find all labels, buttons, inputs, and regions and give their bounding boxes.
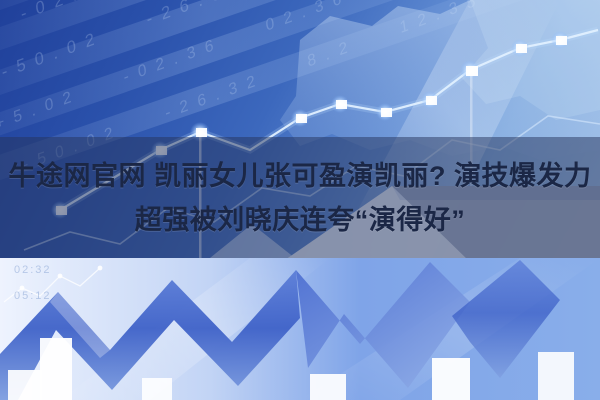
lower-chart-scene	[0, 258, 600, 400]
headline-line-1: 牛途网官网 凯丽女儿张可盈演凯丽? 演技爆发力	[9, 154, 592, 198]
lower-background: 02:32 05:12	[0, 258, 600, 400]
headline-band: 牛途网官网 凯丽女儿张可盈演凯丽? 演技爆发力 超强被刘晓庆连夸“演得好”	[0, 137, 600, 258]
lower-ticker-value: 02:32	[14, 264, 52, 276]
lower-ticker-value: 05:12	[14, 290, 52, 302]
sparkline-dot	[98, 266, 103, 271]
sparkline-dot	[58, 274, 63, 279]
stock-market-banner: -26.35-11.25+5.02-02.3621.36 +2.36-11.25…	[0, 0, 600, 400]
headline-line-2: 超强被刘晓庆连夸“演得好”	[135, 198, 466, 242]
